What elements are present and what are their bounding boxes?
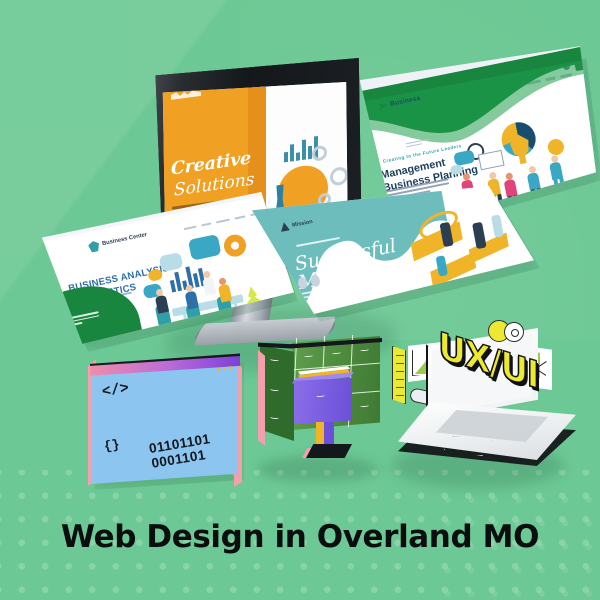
coin-icon	[546, 138, 565, 157]
filing-cabinet[interactable]	[254, 336, 384, 482]
braces-glyph: {}	[103, 437, 121, 454]
code-browser-window[interactable]: </> {} 01101101 0001101	[88, 354, 240, 486]
gear-icon	[330, 166, 348, 186]
person-figure	[491, 214, 504, 237]
play-arrow-icon	[378, 101, 389, 112]
open-drawer[interactable]	[294, 378, 352, 424]
triangle-icon	[279, 221, 290, 232]
speech-bubble	[147, 268, 163, 282]
cabinet-shadow	[258, 456, 378, 482]
person-figure	[472, 222, 487, 249]
whiteboard-graphic	[478, 150, 505, 170]
speech-bubble	[188, 234, 222, 261]
speech-bubble	[450, 164, 464, 175]
shield-icon	[88, 240, 101, 253]
gear-icon	[312, 145, 327, 162]
gear-icon	[222, 233, 248, 259]
gear-outline-icon	[504, 322, 524, 342]
cabinet-foot	[306, 444, 352, 458]
speech-bubble	[453, 150, 475, 167]
cabinet-edge-accent	[258, 350, 265, 446]
page-title: Web Design in Overland MO	[0, 519, 600, 555]
ruler-toolbar[interactable]	[392, 346, 406, 404]
ux-ui-laptop[interactable]: UX/UI	[382, 324, 594, 496]
poster-canvas: Business Creating to the Future Leaders …	[0, 0, 600, 600]
card-successful-mission[interactable]: Mission Successful Mission	[252, 186, 534, 314]
